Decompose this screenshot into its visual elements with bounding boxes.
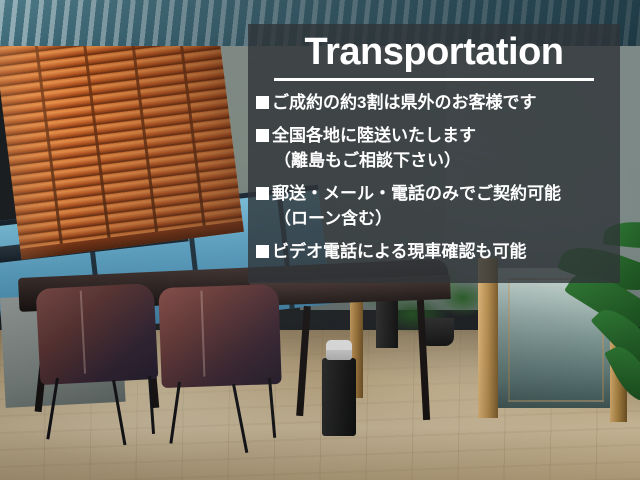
bullet-item: 全国各地に陸送いたします（離島もご相談下さい） <box>256 123 620 173</box>
square-bullet-icon <box>256 187 269 200</box>
bullet-item: ご成約の約3割は県外のお客様です <box>256 90 620 115</box>
square-bullet-icon <box>256 96 269 109</box>
model-van-display <box>326 340 352 360</box>
bullet-line: （離島もご相談下さい） <box>256 148 620 173</box>
bullet-list: ご成約の約3割は県外のお客様です全国各地に陸送いたします（離島もご相談下さい）郵… <box>248 90 620 264</box>
bullet-line: ご成約の約3割は県外のお客様です <box>256 90 620 115</box>
page-title: Transportation <box>248 30 620 74</box>
leather-chair <box>158 284 281 388</box>
title-underline <box>274 78 594 81</box>
bullet-line: （ローン含む） <box>256 206 620 231</box>
chair-seam <box>200 291 205 377</box>
bullet-text: （離島もご相談下さい） <box>274 151 461 170</box>
bullet-text: （ローン含む） <box>274 209 392 228</box>
bullet-text: ビデオ電話による現車確認も可能 <box>272 242 527 261</box>
bullet-item: ビデオ電話による現車確認も可能 <box>256 239 620 264</box>
bullet-item: 郵送・メール・電話のみでご契約可能（ローン含む） <box>256 181 620 231</box>
bullet-text: 郵送・メール・電話のみでご契約可能 <box>272 184 561 203</box>
leather-chair <box>36 283 159 385</box>
text-overlay-panel: Transportation ご成約の約3割は県外のお客様です全国各地に陸送いた… <box>248 24 620 283</box>
bullet-text: ご成約の約3割は県外のお客様です <box>272 93 536 112</box>
square-bullet-icon <box>256 245 269 258</box>
display-pedestal <box>322 358 356 436</box>
square-bullet-icon <box>256 129 269 142</box>
screenshot-frame: Transportation ご成約の約3割は県外のお客様です全国各地に陸送いた… <box>0 0 640 480</box>
bullet-line: 郵送・メール・電話のみでご契約可能 <box>256 181 620 206</box>
bullet-text: 全国各地に陸送いたします <box>272 126 476 145</box>
bullet-line: ビデオ電話による現車確認も可能 <box>256 239 620 264</box>
chair-seam <box>80 291 86 374</box>
bullet-line: 全国各地に陸送いたします <box>256 123 620 148</box>
